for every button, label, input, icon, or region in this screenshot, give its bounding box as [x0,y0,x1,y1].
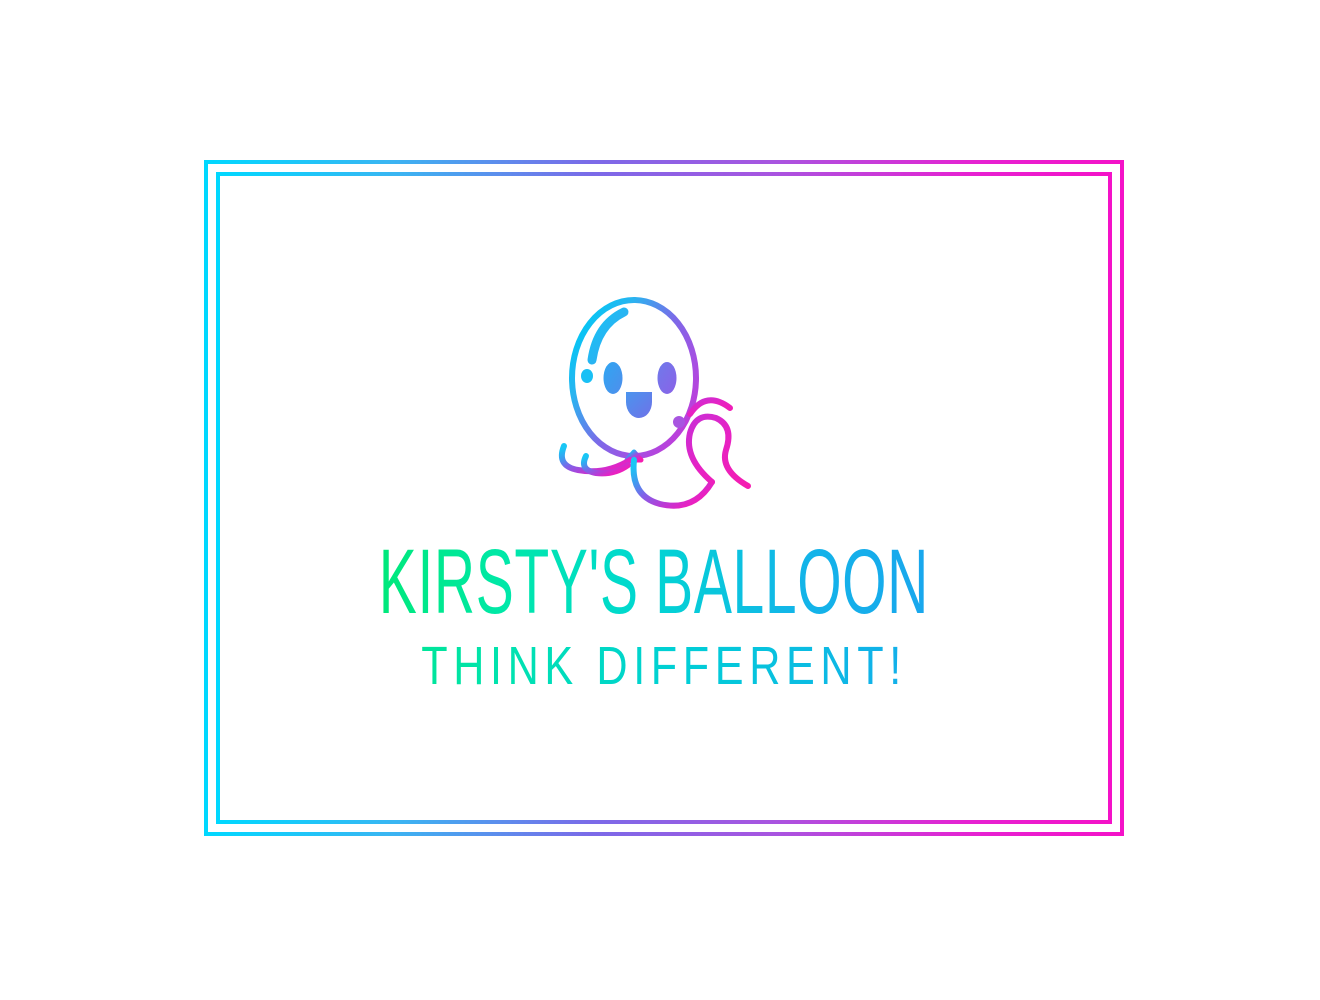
ribbon-accent-dot [673,416,685,428]
balloon-mascot-icon [534,270,794,530]
framed-logo-card: KIRSTY'S BALLOON KREATIONS THINK DIFFERE… [204,160,1124,836]
logo-canvas: KIRSTY'S BALLOON KREATIONS THINK DIFFERE… [0,0,1320,1000]
wordmark: KIRSTY'S BALLOON KREATIONS THINK DIFFERE… [204,540,1124,693]
balloon-highlight-dot [581,369,593,383]
balloon-left-eye [604,362,623,394]
balloon-right-eye [658,362,677,394]
balloon-mouth [626,392,652,418]
brand-title: KIRSTY'S BALLOON KREATIONS [379,540,949,625]
ribbon-right-curl [689,417,748,486]
card-content: KIRSTY'S BALLOON KREATIONS THINK DIFFERE… [204,160,1124,836]
brand-tagline: THINK DIFFERENT! [296,639,1032,693]
